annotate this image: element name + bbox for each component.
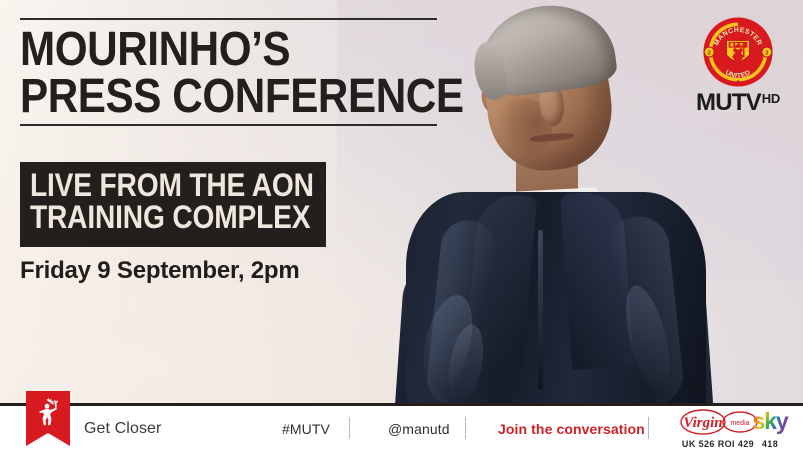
kicker-line-1: LIVE FROM THE AON [30, 167, 314, 203]
headline-line-2: PRESS CONFERENCE [20, 74, 390, 121]
sky-provider: sky 418 [742, 410, 798, 449]
footer-separator [648, 417, 649, 439]
manchester-united-crest-icon: 2 3 MANCHESTER UNITED [702, 16, 774, 88]
footer-call-to-action[interactable]: Join the conversation [498, 421, 645, 437]
footer-twitter-handle[interactable]: @manutd [388, 421, 450, 437]
promo-graphic: MOURINHO’S PRESS CONFERENCE LIVE FROM TH… [0, 0, 803, 451]
sky-channel-number: 418 [742, 439, 798, 449]
svg-text:3: 3 [765, 51, 768, 57]
headline-rule-top [20, 18, 437, 20]
event-datetime: Friday 9 September, 2pm [20, 257, 300, 285]
footer-tagline: Get Closer [84, 420, 161, 438]
footer-hashtag[interactable]: #MUTV [282, 421, 330, 437]
mutv-hd-badge: HD [762, 92, 780, 105]
footer-bar: Get Closer #MUTV @manutd Join the conver… [0, 403, 803, 451]
subject-jacket-zip [538, 230, 543, 390]
kicker-line-2: TRAINING COMPLEX [30, 201, 283, 233]
mutv-wordmark: MUTV HD [691, 91, 785, 115]
svg-text:sky: sky [752, 410, 789, 434]
page-title: MOURINHO’S PRESS CONFERENCE [20, 27, 390, 120]
jose-mourinho-photo [398, 0, 718, 399]
headline-rule-bottom [20, 124, 437, 126]
man-utd-red-devil-flag-icon[interactable] [26, 391, 70, 446]
headline-line-1: MOURINHO’S [20, 23, 290, 76]
footer-separator [465, 417, 466, 439]
headline-block: MOURINHO’S PRESS CONFERENCE [20, 18, 440, 126]
mutv-channel-name: MUTV [696, 91, 761, 115]
sky-logo-icon: sky [742, 410, 798, 439]
footer-separator [349, 417, 350, 439]
svg-text:2: 2 [708, 51, 711, 57]
kicker-text: LIVE FROM THE AON TRAINING COMPLEX [30, 169, 283, 234]
kicker-banner: LIVE FROM THE AON TRAINING COMPLEX [20, 162, 326, 247]
svg-text:Virgin: Virgin [683, 415, 722, 431]
mutv-brand-lockup: 2 3 MANCHESTER UNITED [691, 16, 785, 115]
footer-divider-rule [0, 403, 803, 406]
